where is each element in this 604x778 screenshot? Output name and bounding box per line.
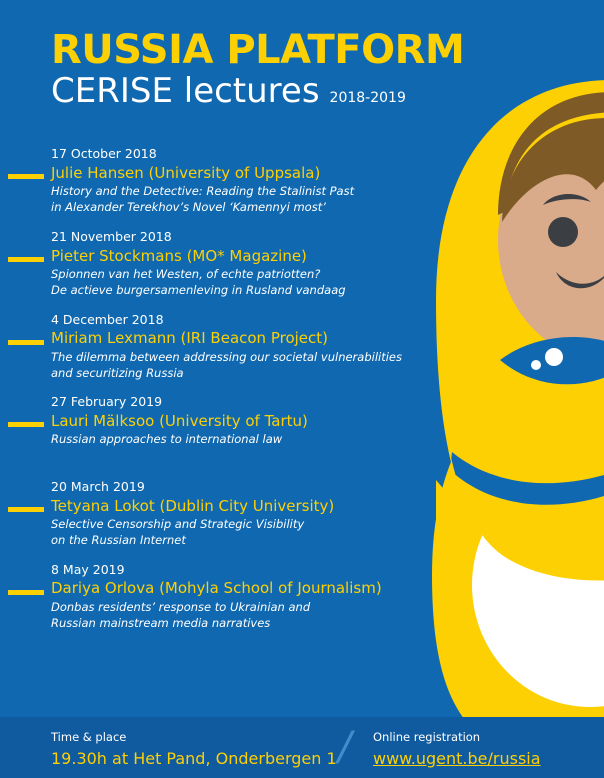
- doll-scarf-fold: [450, 430, 604, 505]
- lecture-date: 21 November 2018: [51, 229, 400, 246]
- doll-eye: [548, 217, 578, 247]
- doll-leaf-motif-1: [500, 337, 604, 384]
- doll-body: [432, 378, 604, 760]
- doll-apron: [472, 463, 604, 707]
- subtitle-row: CERISE lectures 2018-2019: [51, 74, 464, 108]
- lecture-dash-marker: [8, 257, 44, 262]
- lecture-topic-line: The dilemma between addressing our socie…: [51, 349, 400, 365]
- lecture-topic-line: Russian mainstream media narratives: [51, 615, 400, 631]
- header: RUSSIA PLATFORM CERISE lectures 2018-201…: [51, 30, 464, 108]
- lecture-dash-marker: [8, 507, 44, 512]
- academic-year-badge: 2018-2019: [330, 90, 406, 106]
- doll-scarf-tail: [436, 480, 470, 560]
- doll-hair: [498, 92, 604, 215]
- time-place-label: Time & place: [51, 730, 337, 746]
- lecture-topic-line: in Alexander Terekhov’s Novel ‘Kamennyi …: [51, 199, 400, 215]
- lecture-dash-marker: [8, 340, 44, 345]
- doll-smile: [556, 270, 604, 288]
- lecture-speaker: Tetyana Lokot (Dublin City University): [51, 496, 400, 516]
- registration-label: Online registration: [373, 730, 541, 746]
- lecture-list: 17 October 2018 Julie Hansen (University…: [0, 146, 400, 644]
- lecture-topic-line: Selective Censorship and Strategic Visib…: [51, 516, 400, 532]
- page-title: RUSSIA PLATFORM: [51, 30, 464, 70]
- lecture-item: 17 October 2018 Julie Hansen (University…: [0, 146, 400, 216]
- lecture-dash-marker: [8, 422, 44, 427]
- doll-hair-fringe: [502, 118, 604, 222]
- doll-eyebrow: [543, 194, 591, 205]
- lecture-dash-marker: [8, 174, 44, 179]
- lecture-date: 27 February 2019: [51, 394, 400, 411]
- lecture-speaker: Lauri Mälksoo (University of Tartu): [51, 411, 400, 431]
- doll-headscarf: [436, 80, 604, 580]
- lecture-item: 21 November 2018 Pieter Stockmans (MO* M…: [0, 229, 400, 299]
- lecture-dash-marker: [8, 590, 44, 595]
- lecture-topic-line: History and the Detective: Reading the S…: [51, 183, 400, 199]
- doll-leaf-dot-1b: [545, 348, 563, 366]
- lecture-topic-line: De actieve burgersamenleving in Rusland …: [51, 282, 400, 298]
- footer: Time & place 19.30h at Het Pand, Onderbe…: [0, 717, 604, 778]
- footer-registration: Online registration www.ugent.be/russia: [373, 730, 541, 769]
- lecture-topic-line: Russian approaches to international law: [51, 431, 400, 447]
- lecture-speaker: Dariya Orlova (Mohyla School of Journali…: [51, 578, 400, 598]
- lecture-item: 4 December 2018 Miriam Lexmann (IRI Beac…: [0, 312, 400, 382]
- lecture-date: 17 October 2018: [51, 146, 400, 163]
- registration-url-link[interactable]: www.ugent.be/russia: [373, 748, 541, 770]
- doll-face: [498, 118, 604, 362]
- doll-leaf-dot-1a: [531, 360, 541, 370]
- lecture-topic-line: on the Russian Internet: [51, 532, 400, 548]
- lecture-date: 20 March 2019: [51, 479, 400, 496]
- lecture-date: 4 December 2018: [51, 312, 400, 329]
- footer-divider-slash: /: [338, 727, 351, 767]
- time-place-value: 19.30h at Het Pand, Onderbergen 1: [51, 748, 337, 770]
- lecture-topic-line: Donbas residents’ response to Ukrainian …: [51, 599, 400, 615]
- lecture-topic-line: and securitizing Russia: [51, 365, 400, 381]
- lecture-item: 8 May 2019 Dariya Orlova (Mohyla School …: [0, 562, 400, 632]
- lecture-speaker: Julie Hansen (University of Uppsala): [51, 163, 400, 183]
- lecture-item: 27 February 2019 Lauri Mälksoo (Universi…: [0, 394, 400, 447]
- lecture-topic-line: Spionnen van het Westen, of echte patrio…: [51, 266, 400, 282]
- lecture-item: 20 March 2019 Tetyana Lokot (Dublin City…: [0, 479, 400, 549]
- lecture-speaker: Pieter Stockmans (MO* Magazine): [51, 246, 400, 266]
- lecture-speaker: Miriam Lexmann (IRI Beacon Project): [51, 328, 400, 348]
- lecture-date: 8 May 2019: [51, 562, 400, 579]
- page-subtitle: CERISE lectures: [51, 74, 320, 108]
- footer-time-place: Time & place 19.30h at Het Pand, Onderbe…: [51, 730, 337, 769]
- poster: RUSSIA PLATFORM CERISE lectures 2018-201…: [0, 0, 604, 778]
